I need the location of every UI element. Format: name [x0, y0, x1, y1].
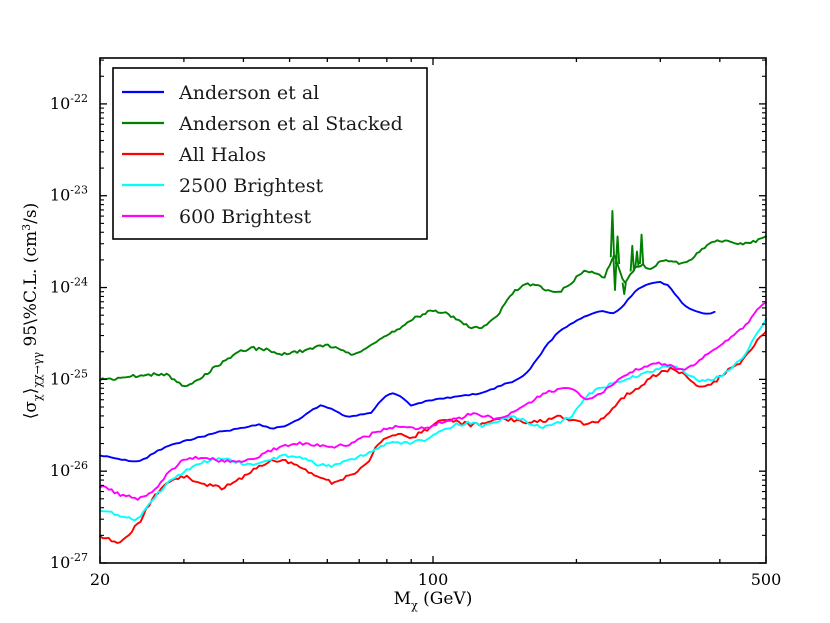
- x-tick-label: 100: [418, 570, 449, 589]
- legend-label: Anderson et al: [178, 82, 319, 104]
- x-tick-label: 20: [90, 570, 110, 589]
- legend-label: Anderson et al Stacked: [178, 113, 403, 135]
- figure-canvas: 2010050010-2210-2310-2410-2510-2610-27 A…: [0, 0, 830, 623]
- svg-text:Mχ (GeV): Mχ (GeV): [394, 589, 473, 612]
- legend-label: 2500 Brightest: [179, 175, 324, 197]
- x-tick-label: 500: [751, 570, 782, 589]
- legend-layer[interactable]: Anderson et alAnderson et al StackedAll …: [113, 68, 427, 239]
- legend-label: All Halos: [178, 144, 266, 166]
- x-axis-label: Mχ (GeV): [394, 589, 473, 612]
- exclusion-limit-plot: 2010050010-2210-2310-2410-2510-2610-27 A…: [0, 0, 830, 623]
- legend-label: 600 Brightest: [179, 206, 311, 228]
